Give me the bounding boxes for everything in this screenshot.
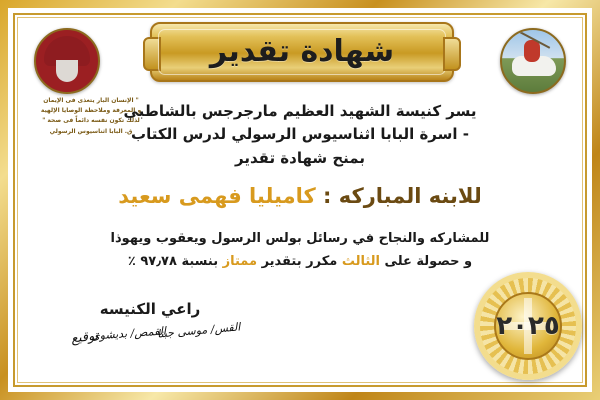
body-line-3: بمنح شهادة تقدير [120, 147, 480, 170]
recipient-name: كاميليا فهمى سعيد [118, 184, 315, 208]
recipient-line: للابنه المباركه : كاميليا فهمى سعيد [70, 184, 530, 209]
achievement-line-2: و حصولة على الثالث مكرر بتقدير ممتاز بنس… [60, 251, 540, 274]
percent-sign: ٪ [128, 254, 136, 269]
medal-core: ٢٠٢٥ [494, 292, 562, 360]
achievement-prefix: و حصولة على [385, 254, 473, 269]
signature-mark-1: القس/ موسى جبنا [156, 320, 240, 340]
signature-title: راعي الكنيسه [60, 300, 240, 318]
achievement-line-1: للمشاركه والنجاح في رسائل بولس الرسول وي… [60, 228, 540, 251]
signature-handwriting: القس/ موسى جبنا القمص/ بديشوى توقيع [18, 318, 248, 364]
achievement-block: للمشاركه والنجاح في رسائل بولس الرسول وي… [60, 228, 540, 274]
year-medal: ٢٠٢٥ [474, 272, 582, 380]
achievement-percentage: ٩٧٫٧٨ [140, 254, 177, 269]
certificate-title-banner: شهادة تقدير [150, 22, 454, 82]
body-line-1: يسر كنيسة الشهيد العظيم مارجرجس بالشاطبي [120, 100, 480, 123]
portrait-rider-shape [524, 40, 540, 62]
certificate-canvas: " الإنسان البار يتغذى فى الإيمان و المعر… [0, 0, 600, 400]
pope-athanasius-portrait [34, 28, 100, 94]
body-line-2: - اسرة البابا اثناسيوس الرسولي لدرس الكت… [120, 123, 480, 146]
achievement-mid: مكرر بتقدير [262, 254, 338, 269]
recipient-label: للابنه المباركه : [323, 184, 482, 208]
achievement-rank: الثالث [342, 254, 380, 269]
achievement-grade: ممتاز [223, 254, 257, 269]
year-label: ٢٠٢٥ [496, 311, 559, 341]
portrait-beard-shape [56, 60, 78, 82]
signature-mark-2: القمص/ بديشوى [91, 324, 167, 342]
signature-mark-3: توقيع [70, 328, 99, 346]
page-title: شهادة تقدير [210, 37, 394, 67]
certificate-body-text: يسر كنيسة الشهيد العظيم مارجرجس بالشاطبي… [120, 100, 480, 170]
saint-george-portrait [500, 28, 566, 94]
achievement-suffix: بنسبة [181, 254, 218, 269]
